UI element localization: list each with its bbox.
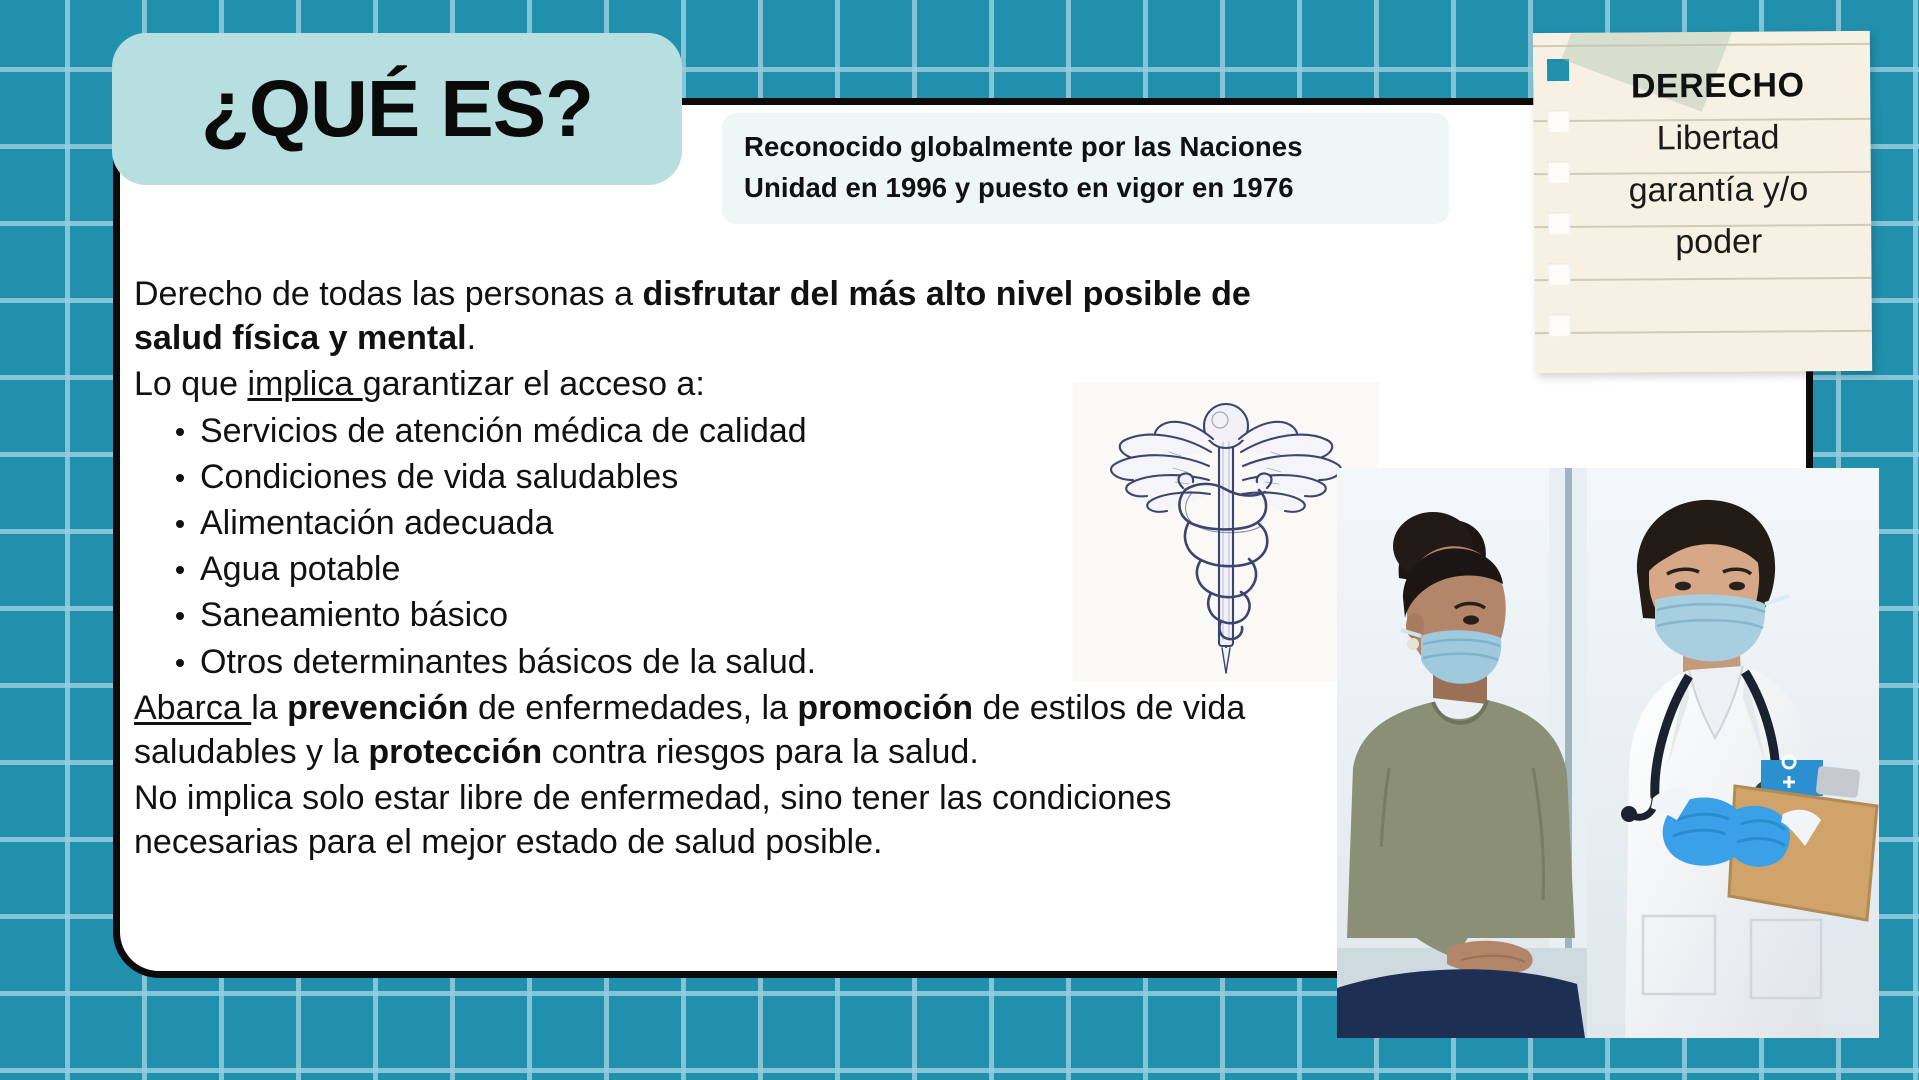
note-hole (1548, 212, 1570, 234)
note-hole (1548, 161, 1570, 183)
para3-part1: la (251, 689, 287, 727)
para1-plain: Derecho de todas las personas a (134, 275, 642, 313)
para2-suffix: garantizar el acceso a: (363, 365, 705, 403)
paragraph-not-only: No implica solo estar libre de enfermeda… (134, 776, 1344, 864)
para3-part2: de enfermedades, la (469, 689, 798, 727)
note-line-garantia: garantía y/o (1580, 163, 1857, 217)
para3-bold-promocion: promoción (797, 689, 973, 727)
caduceus-medical-symbol-icon (1073, 382, 1379, 682)
para2-prefix: Lo que (134, 365, 247, 403)
para2-underlined: implica (247, 365, 362, 403)
title-pill: ¿QUÉ ES? (112, 33, 682, 185)
subtitle-line-1: Reconocido globalmente por las Naciones (744, 127, 1427, 168)
note-text-block: DERECHO Libertad garantía y/o poder (1579, 59, 1857, 269)
page-title: ¿QUÉ ES? (201, 69, 593, 149)
doctor-and-patient-photo (1337, 468, 1879, 1038)
paragraph-scope: Abarca la prevención de enfermedades, la… (134, 686, 1344, 774)
para3-underlined: Abarca (134, 689, 251, 727)
subtitle-chip: Reconocido globalmente por las Naciones … (722, 113, 1449, 224)
note-hole (1547, 110, 1569, 132)
note-line-libertad: Libertad (1579, 111, 1856, 165)
note-title: DERECHO (1579, 59, 1856, 113)
para3-bold-prevencion: prevención (287, 689, 468, 727)
paragraph-definition: Derecho de todas las personas a disfruta… (134, 272, 1344, 360)
note-hole (1547, 59, 1569, 81)
para1-end: . (467, 319, 476, 357)
para3-part4: contra riesgos para la salud. (542, 733, 979, 771)
note-hole (1549, 314, 1571, 336)
note-punch-holes (1547, 59, 1573, 359)
sticky-note: DERECHO Libertad garantía y/o poder (1533, 31, 1872, 373)
note-line-poder: poder (1580, 215, 1857, 269)
subtitle-line-2: Unidad en 1996 y puesto en vigor en 1976 (744, 168, 1427, 209)
note-hole (1548, 263, 1570, 285)
para3-bold-proteccion: protección (368, 733, 542, 771)
